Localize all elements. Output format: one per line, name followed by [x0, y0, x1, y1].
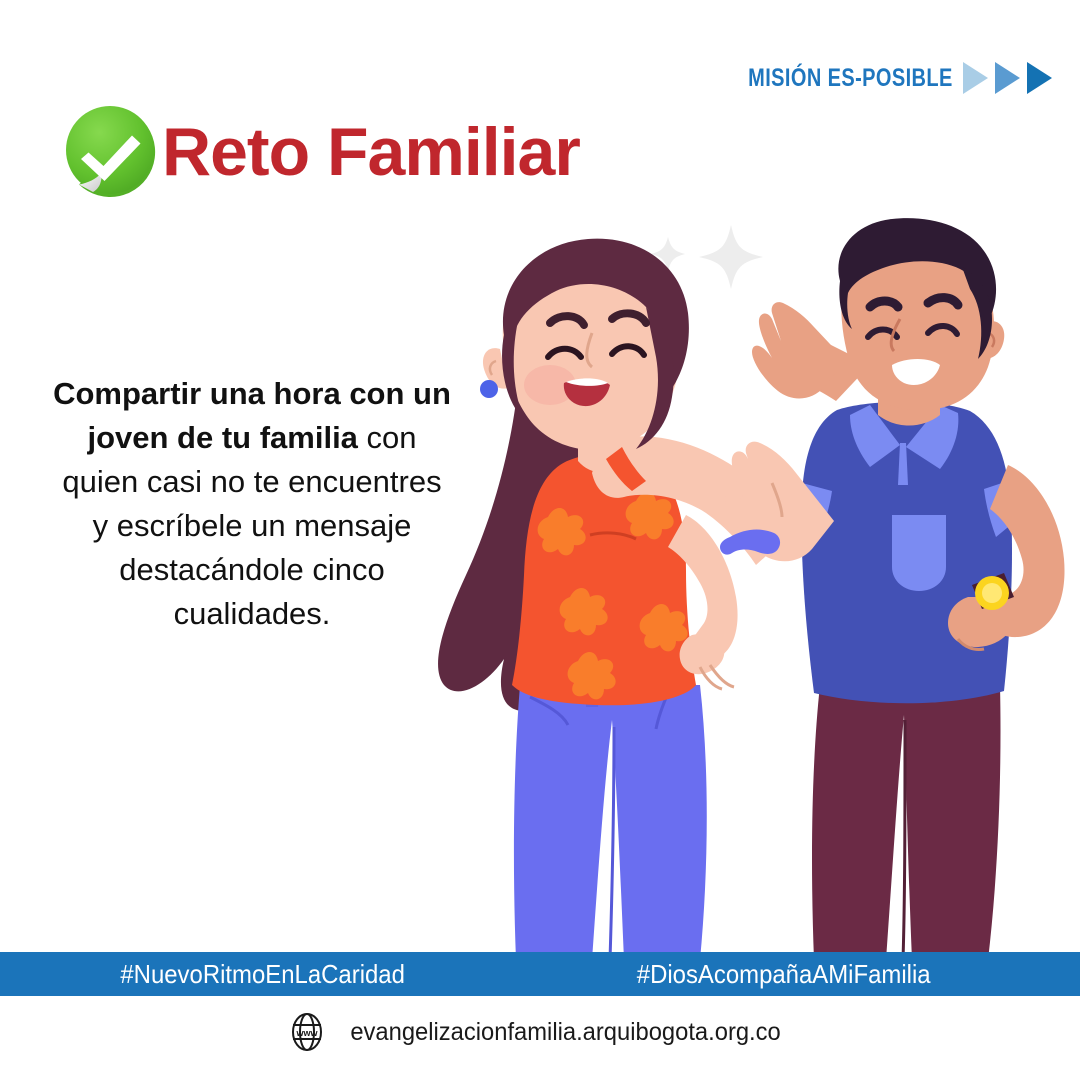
campaign-mark: MISIÓN ES-POSIBLE: [697, 62, 1052, 94]
green-check-sticker-icon: [62, 104, 158, 200]
man-figure: [752, 218, 1065, 960]
poster-canvas: MISIÓN ES-POSIBLE: [0, 0, 1080, 1081]
hashtag-bar: #NuevoRitmoEnLaCaridad #DiosAcompañaAMiF…: [0, 952, 1080, 996]
earring-icon: [480, 380, 498, 398]
brand-lockup: Reto Familiar: [62, 104, 580, 200]
globe-www-icon: www: [287, 1012, 327, 1052]
high-five-couple-illustration: [400, 215, 1080, 960]
hashtag-left: #NuevoRitmoEnLaCaridad: [120, 959, 405, 990]
arrow-3-icon: [1027, 62, 1052, 94]
svg-text:www: www: [296, 1028, 319, 1038]
website-url[interactable]: evangelizacionfamilia.arquibogota.org.co: [351, 1018, 781, 1047]
body-copy: Compartir una hora con un joven de tu fa…: [52, 372, 452, 636]
arrow-group: [963, 62, 1052, 94]
website-line[interactable]: www evangelizacionfamilia.arquibogota.or…: [0, 1012, 1080, 1052]
hashtag-right: #DiosAcompañaAMiFamilia: [637, 959, 931, 990]
arrow-1-icon: [963, 62, 988, 94]
arrow-2-icon: [995, 62, 1020, 94]
campaign-label: MISIÓN ES-POSIBLE: [748, 64, 953, 93]
page-title: Reto Familiar: [162, 118, 580, 186]
